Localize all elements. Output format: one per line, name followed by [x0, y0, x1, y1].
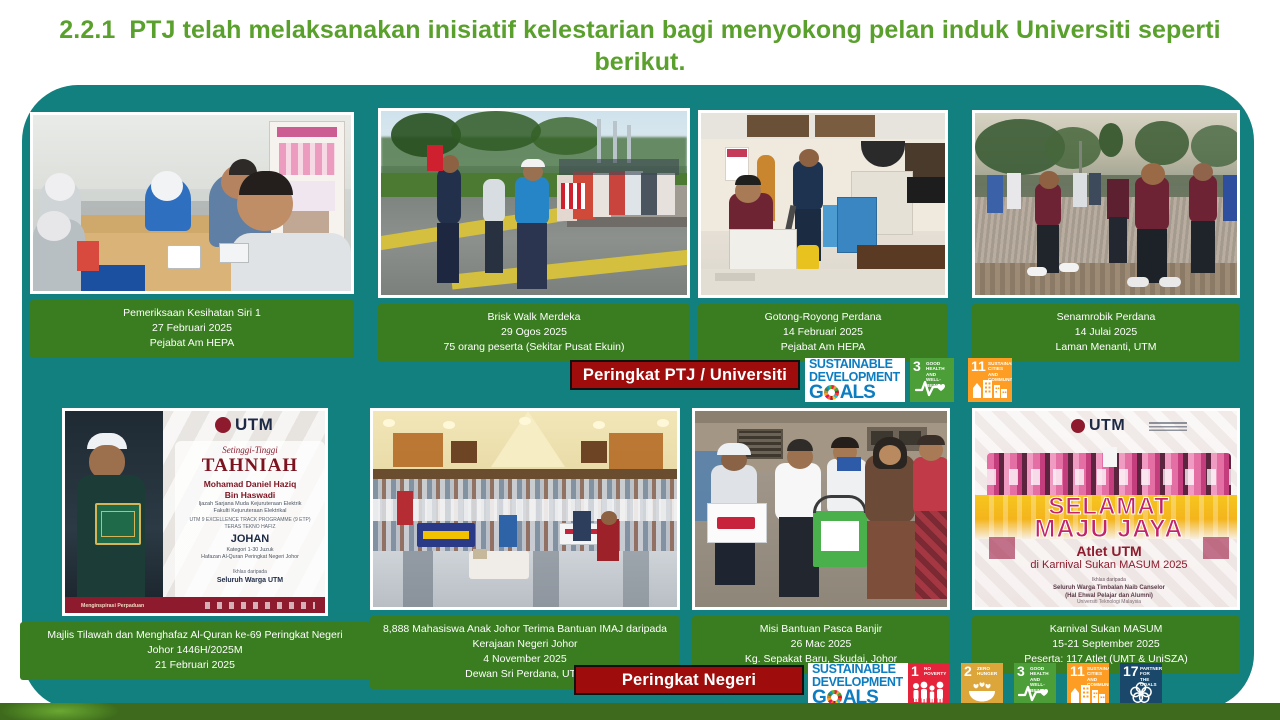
sdg-goal-title: ZERO HUNGER	[977, 666, 1001, 677]
sdg-logo-line3-post: ALS	[840, 384, 875, 402]
bottom-foliage-strip	[0, 703, 1280, 720]
caption-pemeriksaan-kesihatan: Pemeriksaan Kesihatan Siri 1 27 Februari…	[30, 300, 354, 358]
caption-brisk-walk-merdeka: Brisk Walk Merdeka 29 Ogos 2025 75 orang…	[378, 304, 690, 362]
sdg-goal-11: 11 SUSTAINABLE CITIES AND COMMUNITIES	[1067, 663, 1109, 707]
sdg-goal-3: 3 GOOD HEALTH AND WELL-BEING	[910, 358, 954, 402]
sdg-goal-1: 1 NO POVERTY	[908, 663, 950, 707]
photo-senamrobik-perdana	[972, 110, 1240, 298]
title-text: PTJ telah melaksanakan inisiatif kelesta…	[129, 16, 1220, 76]
banner-label: Peringkat Negeri	[622, 671, 756, 690]
sdg-goal-11: 11 SUSTAINABLE CITIES AND COMMUNITIES	[968, 358, 1012, 402]
photo-pemeriksaan-kesihatan	[30, 112, 354, 294]
rings-icon	[1120, 679, 1162, 705]
photo-brisk-walk-merdeka	[378, 108, 690, 298]
sdg-goal-number: 11	[1070, 664, 1085, 678]
caption-gotong-royong-perdana: Gotong-Royong Perdana 14 Februari 2025 P…	[698, 304, 948, 362]
sdg-goal-title: NO POVERTY	[924, 666, 948, 677]
sdg-goal-number: 11	[971, 359, 986, 373]
sdg-logo-line3-pre: G	[809, 384, 823, 402]
sdg-goal-number: 3	[1017, 664, 1025, 678]
slide-root: 2.2.1PTJ telah melaksanakan inisiatif ke…	[0, 0, 1280, 720]
caption-tahniah-tahfiz: Majlis Tilawah dan Menghafaz Al-Quran ke…	[20, 622, 370, 680]
sdg-goal-number: 3	[913, 359, 921, 373]
sdg-wheel-icon	[824, 385, 839, 400]
banner-peringkat-ptj-universiti: Peringkat PTJ / Universiti	[570, 360, 800, 390]
photo-gotong-royong-perdana	[698, 110, 948, 298]
sdg-goal-3: 3 GOOD HEALTH AND WELL-BEING	[1014, 663, 1056, 707]
family-icon	[908, 679, 950, 705]
city-icon	[968, 374, 1012, 400]
heartbeat-icon	[910, 374, 954, 400]
sdg-goal-number: 1	[911, 664, 919, 678]
sdg-logo-row1: SUSTAINABLE DEVELOPMENT G ALS	[805, 358, 905, 402]
banner-label: Peringkat PTJ / Universiti	[583, 366, 787, 385]
photo-bantuan-imaj	[370, 408, 680, 610]
sdg-goal-number: 2	[964, 664, 972, 678]
photo-misi-bantuan-pasca-banjir	[692, 408, 950, 610]
heartbeat-icon	[1014, 679, 1056, 705]
sdg-goal-number: 17	[1123, 664, 1139, 678]
sdg-goal-17: 17 PARTNERSHIPS FOR THE GOALS	[1120, 663, 1162, 707]
banner-peringkat-negeri: Peringkat Negeri	[574, 665, 804, 695]
title-number: 2.2.1	[59, 16, 115, 44]
photo-karnival-sukan-masum: UTM SELAMAT MAJU JAYA Atlet UTM di Karni…	[972, 408, 1240, 610]
city-icon	[1067, 679, 1109, 705]
caption-senamrobik-perdana: Senamrobik Perdana 14 Julai 2025 Laman M…	[972, 304, 1240, 362]
bowl-icon	[961, 679, 1003, 705]
photo-tahniah-tahfiz-poster: UTM Setinggi-Tinggi TAHNIAH Mohamad Dani…	[62, 408, 328, 616]
sdg-goal-2: 2 ZERO HUNGER	[961, 663, 1003, 707]
page-title: 2.2.1PTJ telah melaksanakan inisiatif ke…	[20, 14, 1260, 78]
sdg-logo-row2: SUSTAINABLE DEVELOPMENT G ALS	[808, 663, 908, 707]
